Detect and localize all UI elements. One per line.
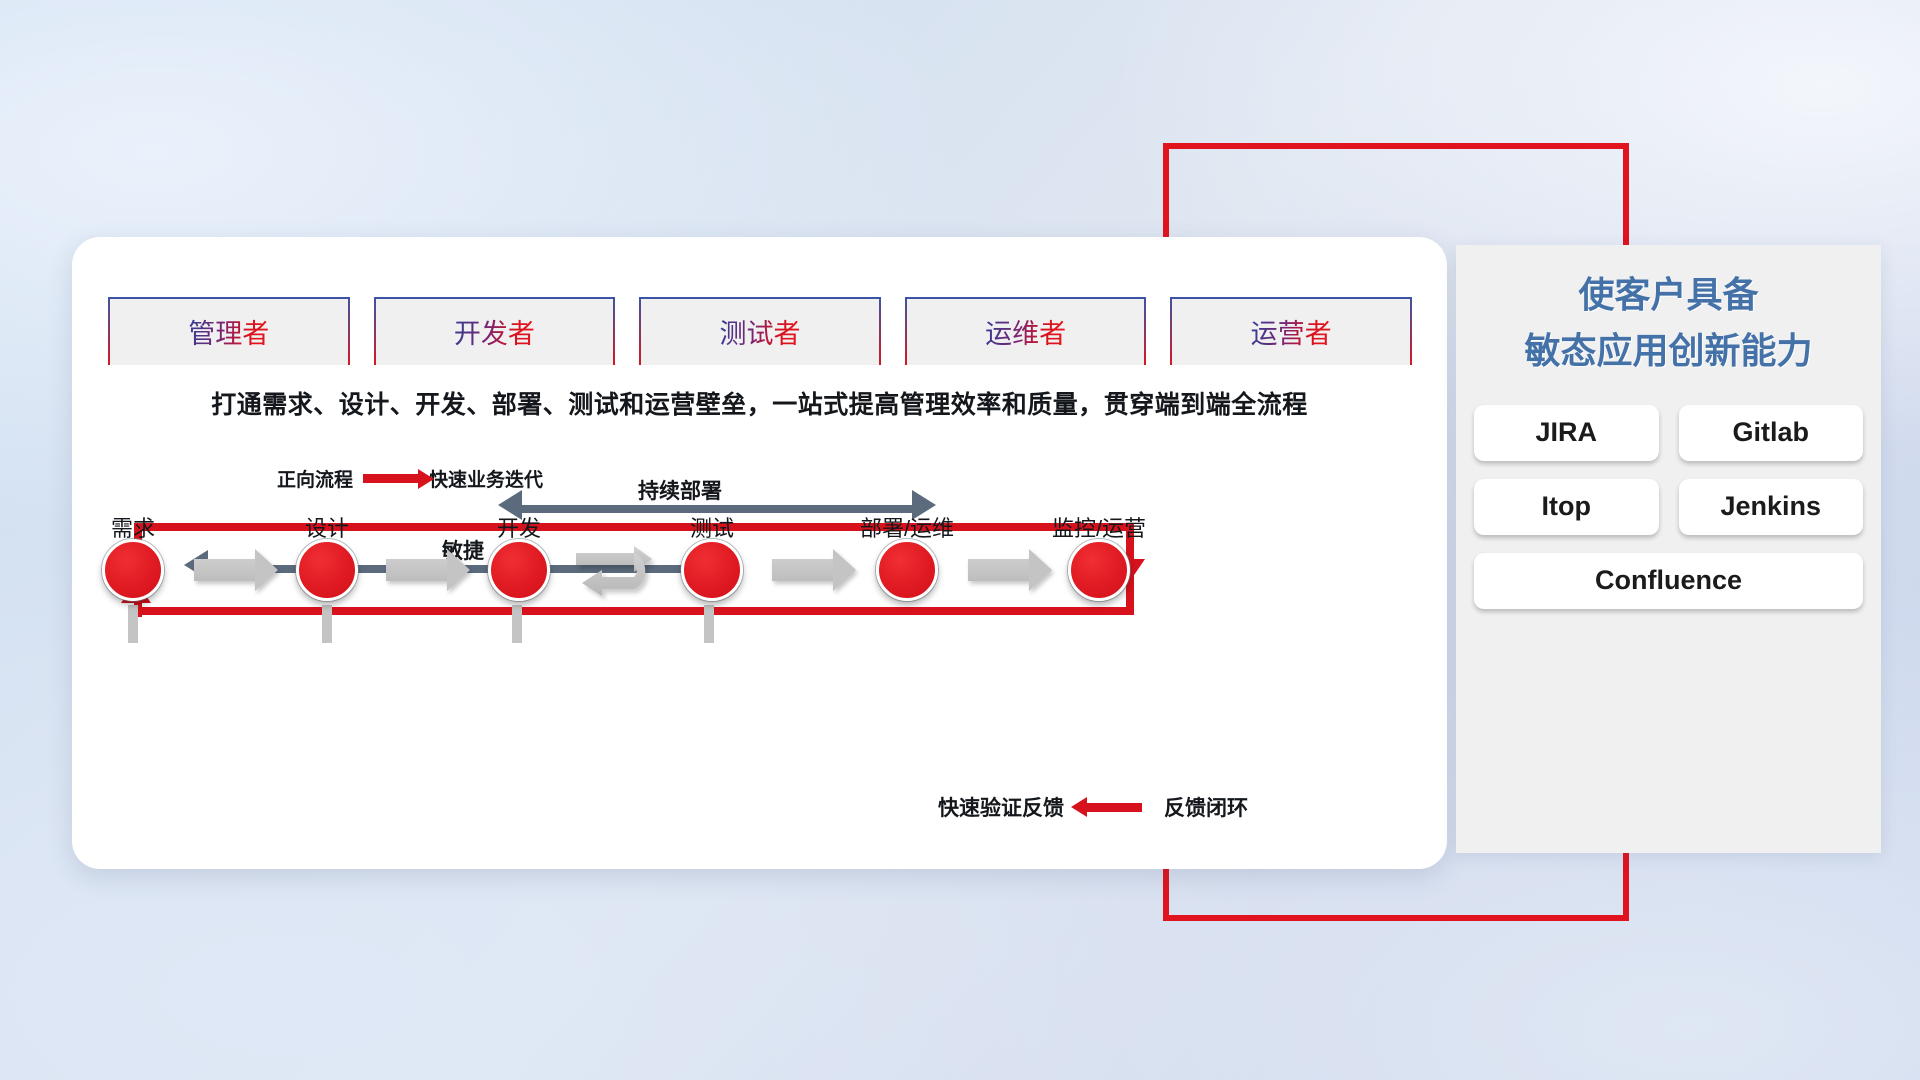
tools-panel: 使客户具备 敏态应用创新能力 JIRA Gitlab Itop Jenkins …: [1456, 245, 1881, 853]
tool-button-jenkins[interactable]: Jenkins: [1679, 479, 1864, 535]
tool-button-gitlab[interactable]: Gitlab: [1679, 405, 1864, 461]
stage-node-test[interactable]: [681, 539, 743, 601]
stage-node-deploy-ops[interactable]: [876, 539, 938, 601]
pipeline: 需求 设计 开发 测试 部署/运维 监控/运营: [72, 237, 1447, 869]
panel-title: 使客户具备 敏态应用创新能力: [1456, 245, 1881, 379]
tool-button-confluence[interactable]: Confluence: [1474, 553, 1863, 609]
flow-arrow-4-icon: [968, 559, 1030, 581]
tool-button-itop[interactable]: Itop: [1474, 479, 1659, 535]
stage-node-monitor-operations[interactable]: [1068, 539, 1130, 601]
iteration-loop-arrow-icon: [572, 543, 682, 605]
panel-title-line-2: 敏态应用创新能力: [1456, 323, 1881, 379]
legend-feedback-loop: 快速验证反馈 反馈闭环: [938, 792, 1248, 822]
stage-node-requirement[interactable]: [102, 539, 164, 601]
legend-feedback-left-label: 快速验证反馈: [938, 792, 1064, 822]
flow-arrow-2-icon: [386, 559, 448, 581]
tools-grid: JIRA Gitlab Itop Jenkins Confluence: [1474, 405, 1863, 609]
red-arrow-left-icon: [1086, 803, 1142, 812]
legend-feedback-right-label: 反馈闭环: [1164, 792, 1248, 822]
main-diagram-card: 管理者 开发者 测试者 运维者 运营者 打通需求、设计、开发、部署、测试和运营壁…: [72, 237, 1447, 869]
panel-title-line-1: 使客户具备: [1456, 267, 1881, 323]
stage-node-design[interactable]: [296, 539, 358, 601]
flow-arrow-3-icon: [772, 559, 834, 581]
tool-button-jira[interactable]: JIRA: [1474, 405, 1659, 461]
stage-node-develop[interactable]: [488, 539, 550, 601]
flow-arrow-1-icon: [194, 559, 256, 581]
